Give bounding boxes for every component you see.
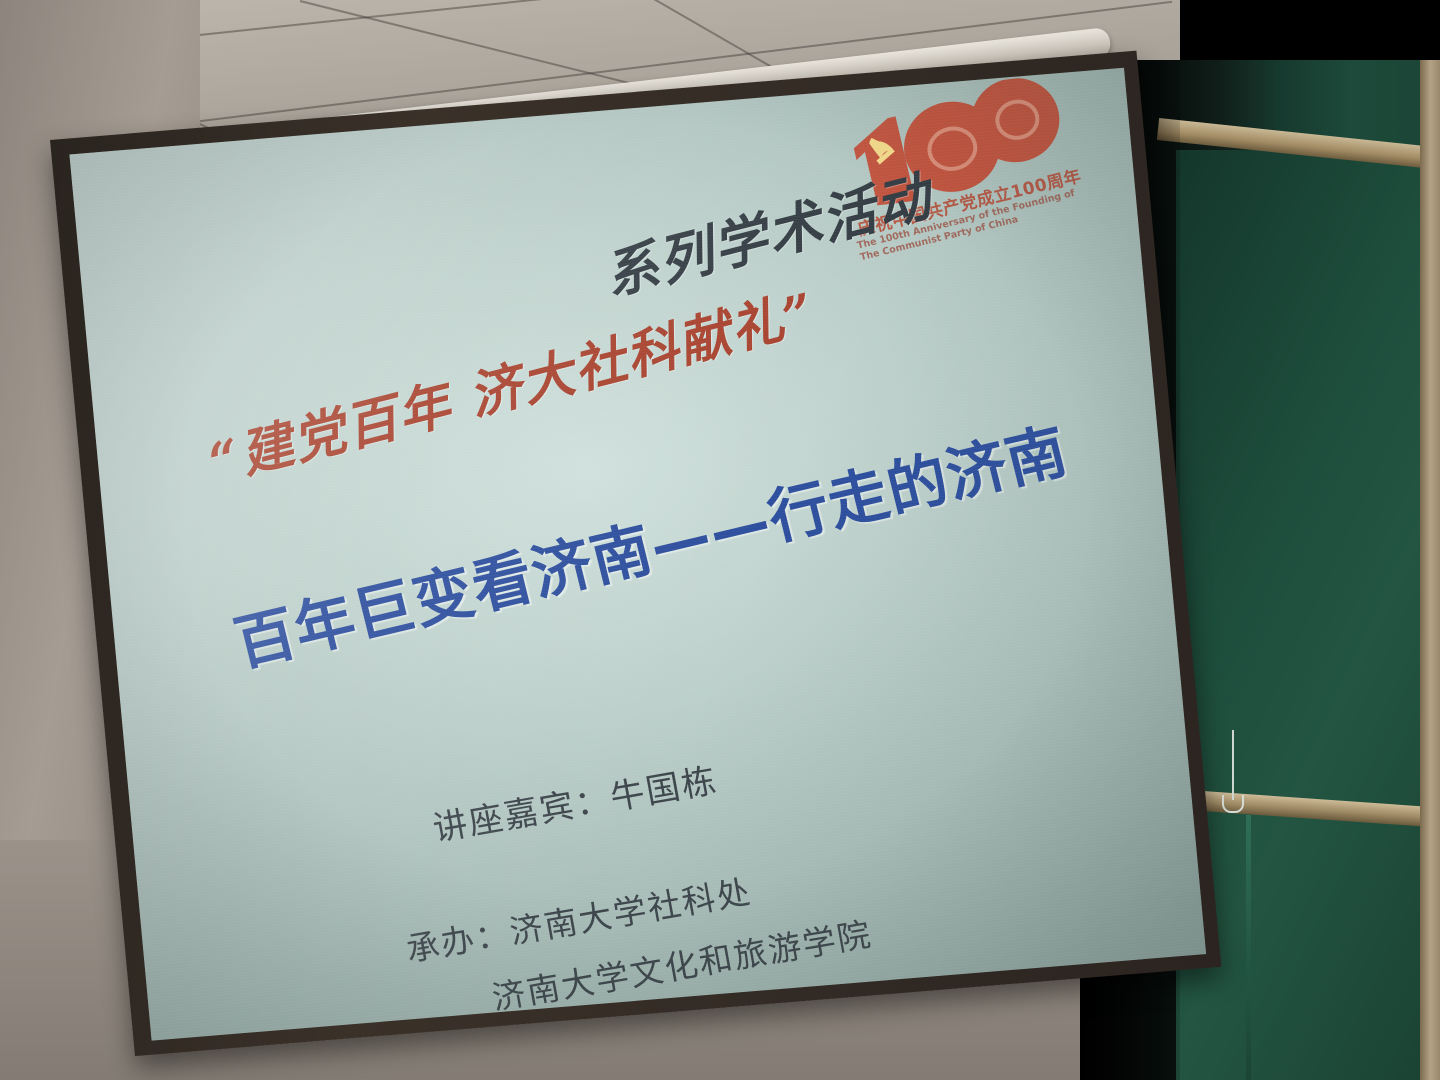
- hook-icon: [1222, 795, 1244, 813]
- slide-guest-line: 讲座嘉宾：牛国栋: [429, 716, 930, 850]
- projection-screen-surface: 庆祝中国共产党成立100周年 The 100th Anniversary of …: [69, 68, 1206, 1041]
- blackboard-right-frame: [1420, 60, 1440, 1080]
- classroom-photo-scene: 庆祝中国共产党成立100周年 The 100th Anniversary of …: [0, 0, 1440, 1080]
- presentation-slide: 庆祝中国共产党成立100周年 The 100th Anniversary of …: [69, 68, 1206, 1041]
- hanging-wire: [1232, 730, 1234, 800]
- projection-screen-frame: 庆祝中国共产党成立100周年 The 100th Anniversary of …: [50, 51, 1221, 1056]
- headline-red-part: “建党百年 济大社科献礼”: [200, 270, 823, 496]
- blackboard-panel-seam: [1246, 815, 1251, 1080]
